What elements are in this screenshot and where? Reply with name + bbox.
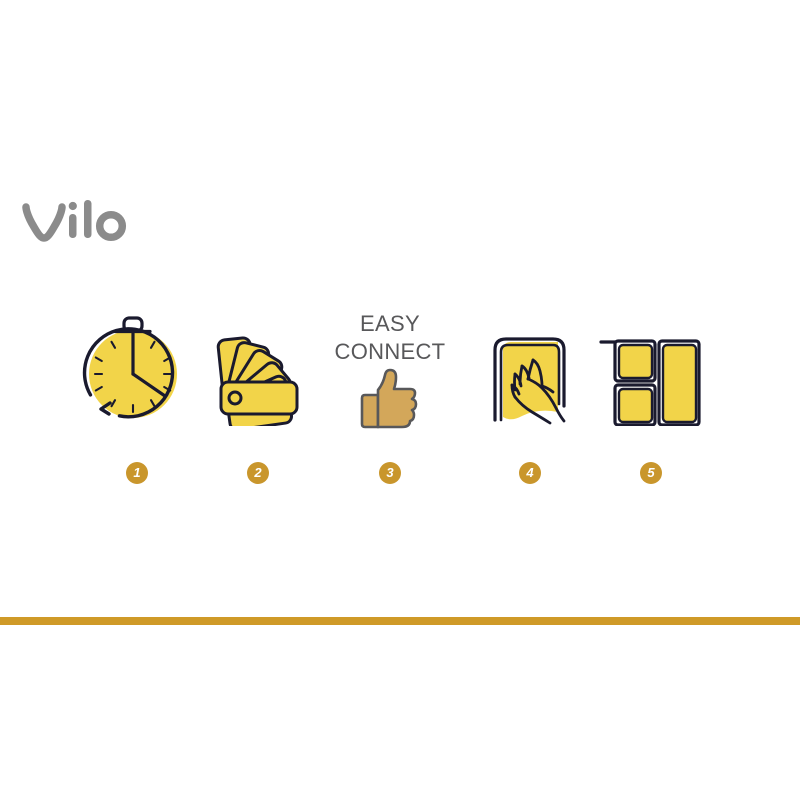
step-item-5[interactable]: 5	[581, 296, 721, 496]
step-item-2[interactable]: 2	[188, 296, 328, 496]
vilo-wordmark-icon	[22, 200, 132, 248]
step-caption-easy-connect: EASY CONNECT	[320, 310, 460, 366]
step-badge-3: 3	[379, 462, 401, 484]
footer-accent-bar	[0, 617, 800, 625]
step-item-4[interactable]: 4	[460, 296, 600, 496]
step-badge-1: 1	[126, 462, 148, 484]
step-item-3[interactable]: EASY CONNECT 3	[320, 296, 460, 496]
step-badge-4: 4	[519, 462, 541, 484]
step-badge-5: 5	[640, 462, 662, 484]
brand-logo	[22, 200, 132, 248]
thumbs-up-icon	[320, 364, 460, 519]
wiping-hand-cloth-icon	[460, 296, 600, 451]
steps-row: 1	[0, 296, 800, 496]
color-swatch-fan-icon	[188, 296, 328, 451]
caption-line-2: CONNECT	[320, 338, 460, 366]
stopwatch-icon	[67, 296, 207, 451]
caption-line-1: EASY	[320, 310, 460, 338]
step-badge-2: 2	[247, 462, 269, 484]
step-item-1[interactable]: 1	[67, 296, 207, 496]
panel-layout-icon	[581, 296, 721, 451]
